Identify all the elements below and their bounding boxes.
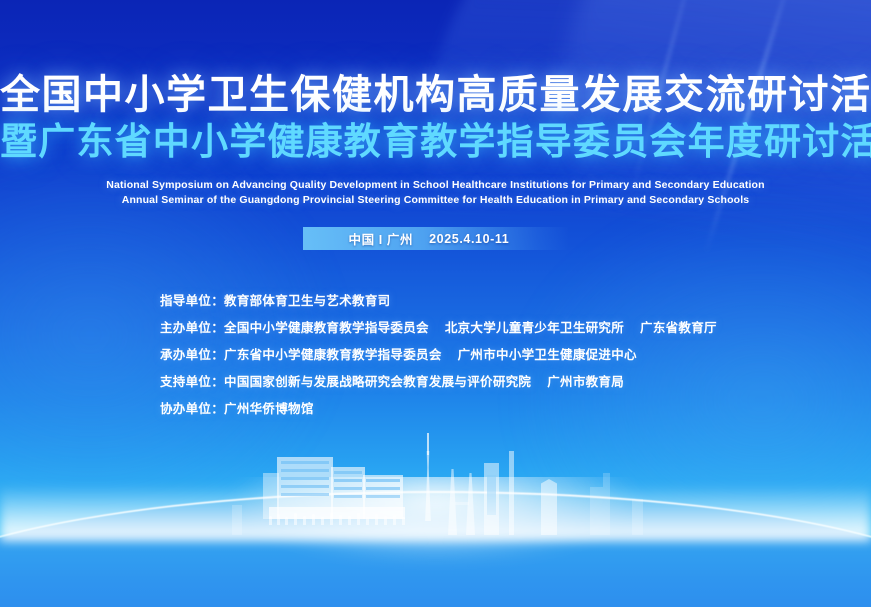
organization-label: 支持单位： [160,369,224,396]
organization-value: 教育部体育卫生与艺术教育司 [224,288,390,315]
organization-label: 协办单位： [160,396,224,423]
title-block: 全国中小学卫生保健机构高质量发展交流研讨活动 暨广东省中小学健康教育教学指导委员… [0,72,871,164]
poster-title-primary: 全国中小学卫生保健机构高质量发展交流研讨活动 [0,72,871,118]
organization-value: 广东省中小学健康教育教学指导委员会 [224,342,442,369]
organization-label: 指导单位： [160,288,224,315]
organization-row: 支持单位： 中国国家创新与发展战略研究会教育发展与评价研究院 广州市教育局 [160,369,717,396]
organization-value: 广州华侨博物馆 [224,396,314,423]
organization-row: 协办单位： 广州华侨博物馆 [160,396,717,423]
organization-value: 中国国家创新与发展战略研究会教育发展与评价研究院 [224,369,531,396]
skyline-haze [0,485,871,541]
organization-values: 教育部体育卫生与艺术教育司 [224,288,390,315]
organization-values: 广州华侨博物馆 [224,396,314,423]
organization-row: 承办单位： 广东省中小学健康教育教学指导委员会 广州市中小学卫生健康促进中心 [160,342,717,369]
organization-label: 承办单位： [160,342,224,369]
conference-poster: 全国中小学卫生保健机构高质量发展交流研讨活动 暨广东省中小学健康教育教学指导委员… [0,0,871,607]
event-badge-wrapper: 中国 I 广州 2025.4.10-11 [0,227,871,250]
organization-row: 主办单位： 全国中小学健康教育教学指导委员会 北京大学儿童青少年卫生研究所 广东… [160,315,717,342]
organization-value: 广东省教育厅 [640,315,717,342]
organization-value: 北京大学儿童青少年卫生研究所 [445,315,624,342]
event-location: 中国 I 广州 [349,229,414,248]
organization-values: 中国国家创新与发展战略研究会教育发展与评价研究院 广州市教育局 [224,369,624,396]
event-date: 2025.4.10-11 [429,232,509,246]
organization-label: 主办单位： [160,315,224,342]
organization-value: 广州市教育局 [547,369,624,396]
organization-value: 全国中小学健康教育教学指导委员会 [224,315,429,342]
event-badge: 中国 I 广州 2025.4.10-11 [303,227,569,250]
english-subtitle-line-1: National Symposium on Advancing Quality … [0,178,871,193]
poster-title-secondary: 暨广东省中小学健康教育教学指导委员会年度研讨活动 [0,120,871,164]
organization-values: 广东省中小学健康教育教学指导委员会 广州市中小学卫生健康促进中心 [224,342,637,369]
organization-values: 全国中小学健康教育教学指导委员会 北京大学儿童青少年卫生研究所 广东省教育厅 [224,315,717,342]
organization-row: 指导单位： 教育部体育卫生与艺术教育司 [160,288,717,315]
organization-value: 广州市中小学卫生健康促进中心 [458,342,637,369]
english-subtitle-line-2: Annual Seminar of the Guangdong Provinci… [0,193,871,208]
city-skyline [0,405,871,535]
organizations-list: 指导单位： 教育部体育卫生与艺术教育司 主办单位： 全国中小学健康教育教学指导委… [160,288,717,423]
english-subtitle-block: National Symposium on Advancing Quality … [0,178,871,208]
